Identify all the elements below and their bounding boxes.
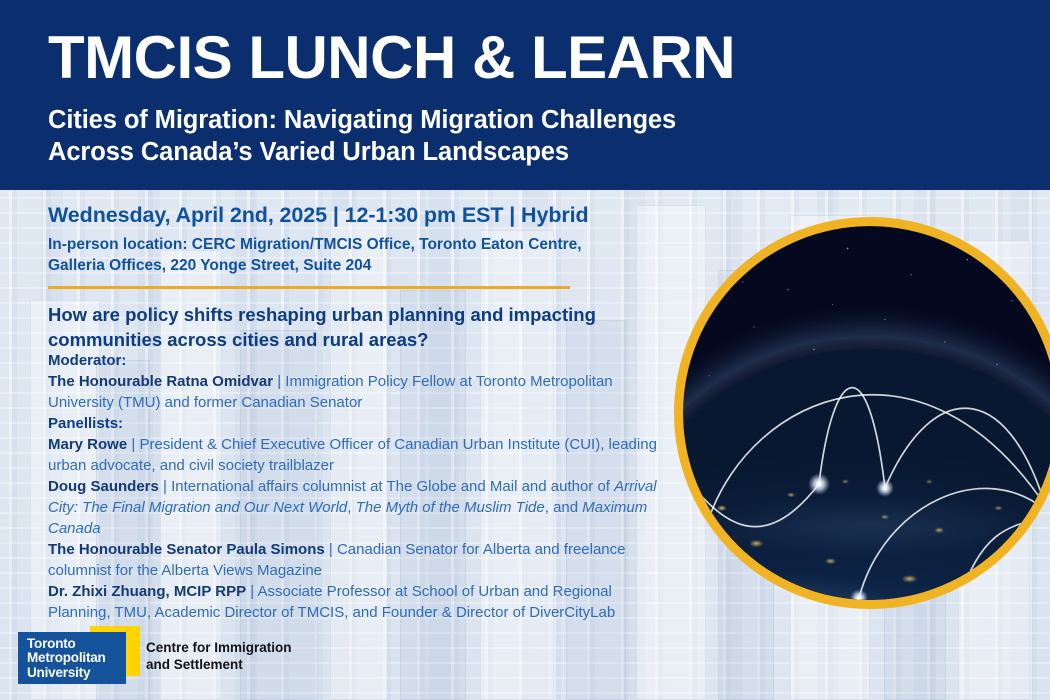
tmu-logo-text: Toronto Metropolitan University [27, 637, 106, 680]
globe-network-image [674, 217, 1050, 609]
centre-for-immigration-and-settlement-logo: Centre for Immigration and Settlement [146, 639, 292, 673]
tmu-logo-line-2: Metropolitan [27, 651, 106, 665]
moderator-name: The Honourable Ratna Omidvar [48, 373, 273, 390]
page-title: TMCIS LUNCH & LEARN [48, 26, 735, 90]
panellist-entry: Dr. Zhixi Zhuang, MCIP RPP | Associate P… [48, 581, 658, 623]
moderator-label: Moderator: [48, 350, 658, 371]
panellist-separator: | [159, 478, 171, 495]
page-subtitle: Cities of Migration: Navigating Migratio… [48, 104, 676, 168]
moderator-entry: The Honourable Ratna Omidvar | Immigrati… [48, 371, 658, 413]
event-poster: TMCIS LUNCH & LEARN Cities of Migration:… [0, 0, 1050, 700]
gold-divider [48, 286, 570, 289]
panellist-separator: | [127, 436, 139, 453]
tmu-logo-box: Toronto Metropolitan University [18, 632, 126, 684]
subtitle-line-2: Across Canada’s Varied Urban Landscapes [48, 136, 676, 168]
panellist-separator: | [246, 583, 257, 600]
tmu-logo-line-3: University [27, 666, 106, 680]
network-arcs [683, 226, 1050, 600]
panellist-description-cont: , and [545, 499, 583, 516]
panellist-description: International affairs columnist at The G… [171, 478, 614, 495]
panellist-description-cont: , [347, 499, 355, 516]
event-question: How are policy shifts reshaping urban pl… [48, 302, 608, 352]
subtitle-line-1: Cities of Migration: Navigating Migratio… [48, 104, 676, 136]
centre-line-1: Centre for Immigration [146, 639, 292, 656]
tmu-logo: Toronto Metropolitan University [18, 632, 140, 684]
moderator-separator: | [273, 373, 285, 390]
book-title-muslim-tide: The Myth of the Muslim Tide [356, 499, 545, 516]
tmu-logo-line-1: Toronto [27, 637, 106, 651]
panellist-entry: Doug Saunders | International affairs co… [48, 476, 658, 539]
speakers-section: Moderator: The Honourable Ratna Omidvar … [48, 350, 658, 623]
event-datetime: Wednesday, April 2nd, 2025 | 12-1:30 pm … [48, 203, 589, 228]
panellist-name: Mary Rowe [48, 436, 127, 453]
poster-header: TMCIS LUNCH & LEARN Cities of Migration:… [0, 0, 1050, 190]
panellist-name: The Honourable Senator Paula Simons [48, 541, 325, 558]
panellist-name: Dr. Zhixi Zhuang, MCIP RPP [48, 583, 246, 600]
panellists-label: Panellists: [48, 413, 658, 434]
panellist-entry: The Honourable Senator Paula Simons | Ca… [48, 539, 658, 581]
panellist-name: Doug Saunders [48, 478, 159, 495]
event-location: In-person location: CERC Migration/TMCIS… [48, 234, 588, 276]
panellist-entry: Mary Rowe | President & Chief Executive … [48, 434, 658, 476]
centre-line-2: and Settlement [146, 656, 292, 673]
panellist-separator: | [325, 541, 337, 558]
panellist-description: President & Chief Executive Officer of C… [48, 436, 657, 474]
